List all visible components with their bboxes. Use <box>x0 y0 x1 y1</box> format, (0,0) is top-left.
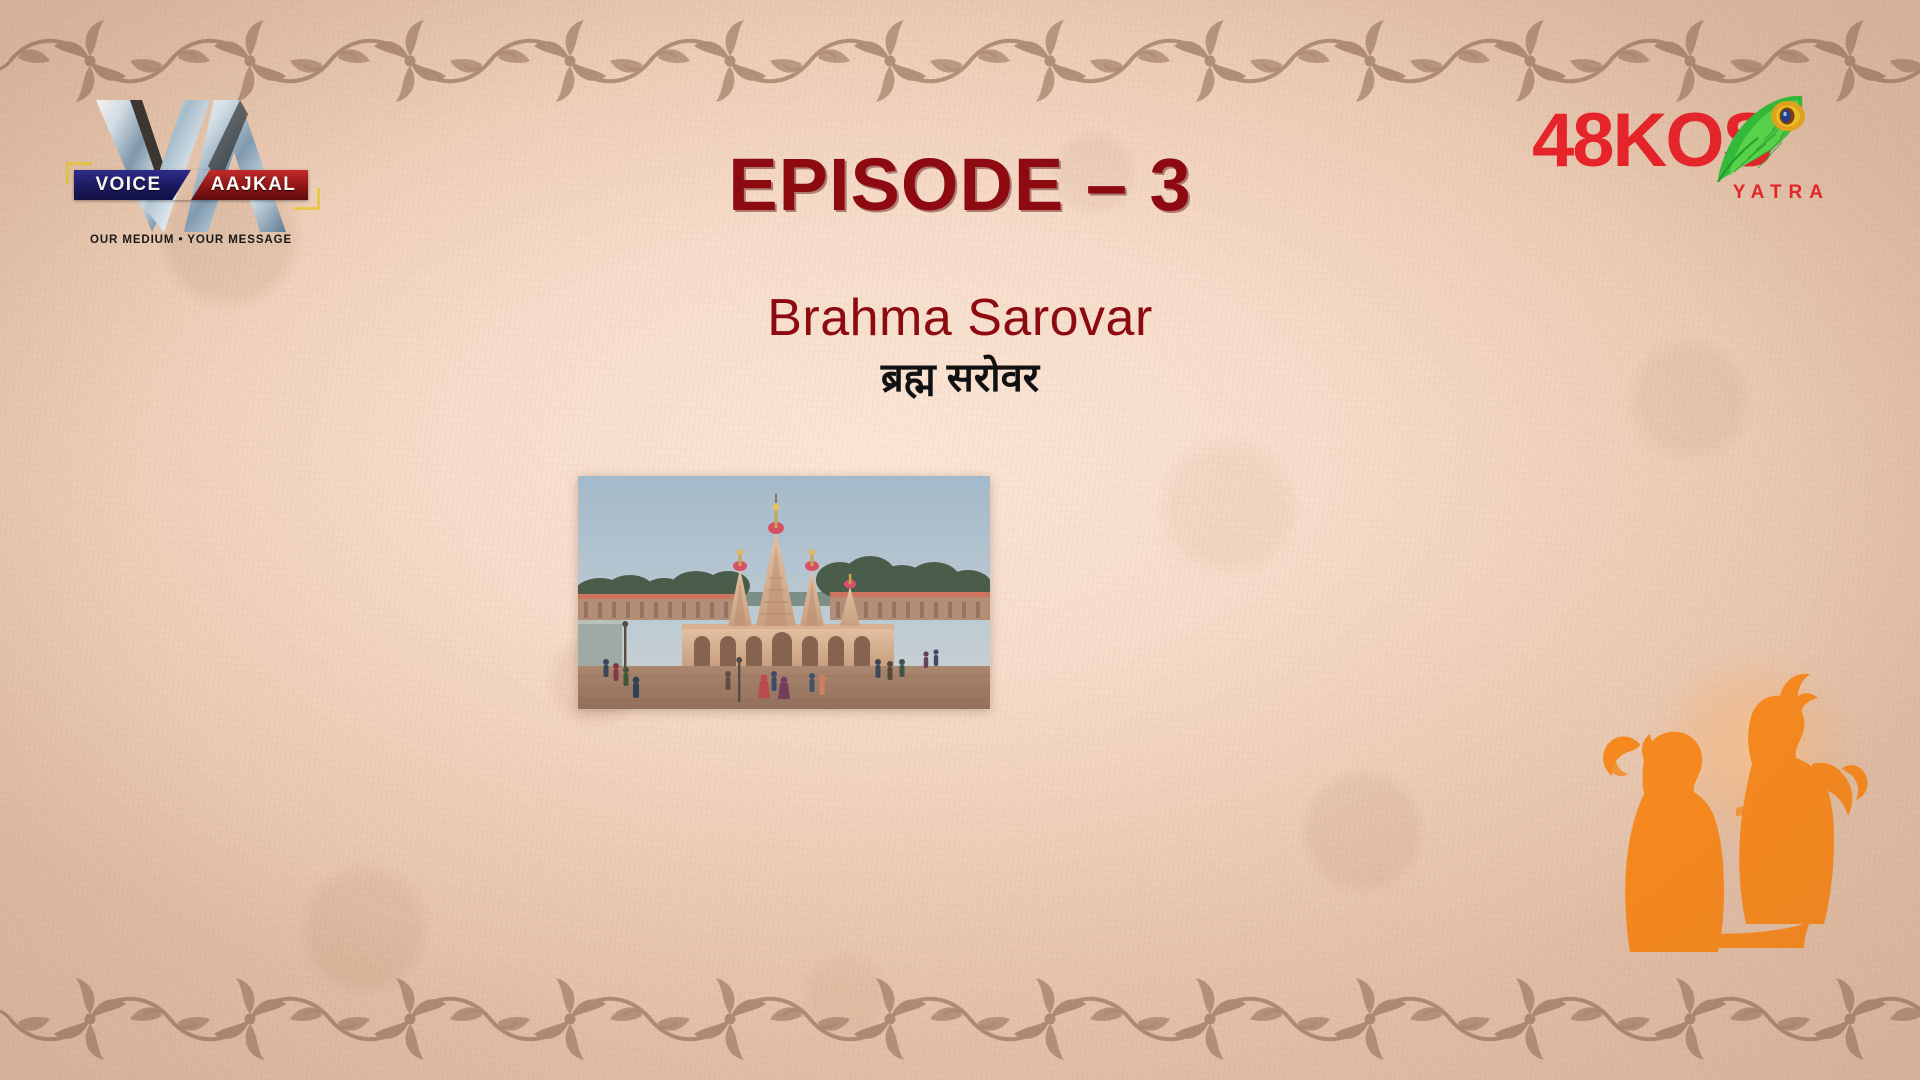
krishna-arjuna-silhouette <box>1584 660 1884 960</box>
title-card-slide: VOICE AAJKAL OUR MEDIUM • YOUR MESSAGE 4… <box>0 0 1920 1080</box>
ornamental-border-bottom <box>0 964 1920 1074</box>
place-name-hindi: ब्रह्म सरोवर <box>0 348 1920 403</box>
temple-photo <box>578 476 990 709</box>
place-name-english: Brahma Sarovar <box>0 288 1920 348</box>
brand-tagline: OUR MEDIUM • YOUR MESSAGE <box>66 234 316 246</box>
episode-title: EPISODE – 3 <box>0 142 1920 227</box>
